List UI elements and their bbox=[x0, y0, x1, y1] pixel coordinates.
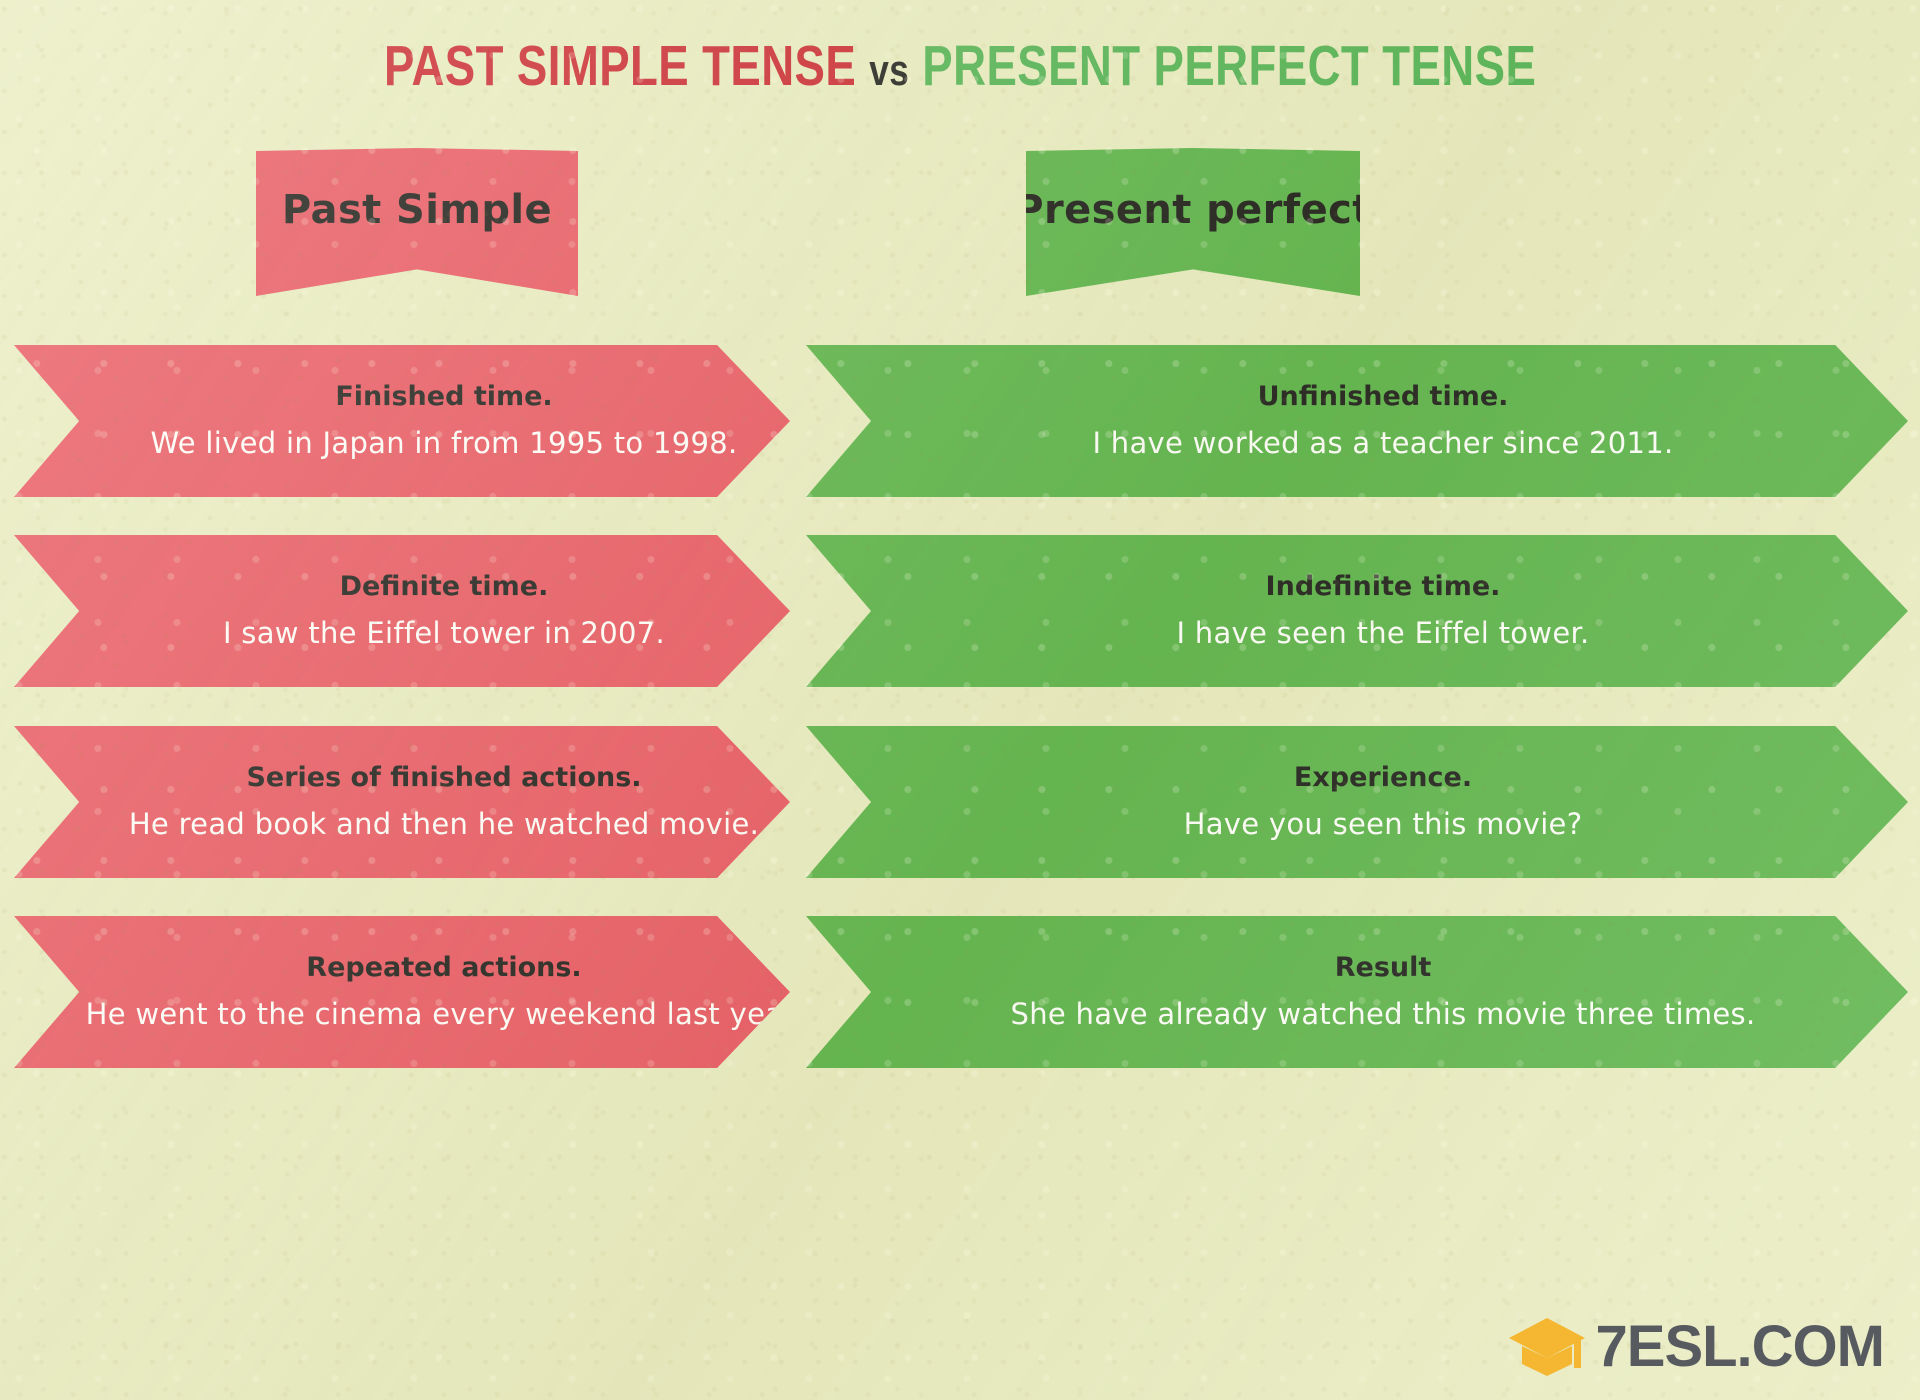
past-simple-item-4-headline: Repeated actions. bbox=[306, 953, 581, 983]
title-vs-separator: vs bbox=[869, 46, 909, 95]
past-simple-item-1-headline: Finished time. bbox=[335, 382, 552, 412]
past-simple-item-1: Finished time. We lived in Japan in from… bbox=[14, 345, 790, 497]
column-header-present-perfect-label: Present perfect bbox=[1014, 187, 1371, 233]
title-present-perfect: PRESENT PERFECT TENSE bbox=[922, 34, 1536, 98]
present-perfect-item-3-example: Have you seen this movie? bbox=[1184, 809, 1583, 841]
graduation-cap-icon bbox=[1508, 1316, 1586, 1378]
column-header-past-simple: Past Simple bbox=[256, 148, 578, 296]
present-perfect-item-2-example: I have seen the Eiffel tower. bbox=[1176, 618, 1589, 650]
present-perfect-item-1: Unfinished time. I have worked as a teac… bbox=[806, 345, 1908, 497]
present-perfect-item-1-example: I have worked as a teacher since 2011. bbox=[1092, 428, 1673, 460]
present-perfect-item-4-example: She have already watched this movie thre… bbox=[1011, 999, 1756, 1031]
page-title: PAST SIMPLE TENSE vs PRESENT PERFECT TEN… bbox=[0, 38, 1920, 95]
past-simple-item-2-example: I saw the Eiffel tower in 2007. bbox=[223, 618, 665, 650]
past-simple-item-3-example: He read book and then he watched movie. bbox=[129, 809, 759, 841]
title-past-simple: PAST SIMPLE TENSE bbox=[384, 34, 856, 98]
present-perfect-item-2: Indefinite time. I have seen the Eiffel … bbox=[806, 535, 1908, 687]
present-perfect-item-3: Experience. Have you seen this movie? bbox=[806, 726, 1908, 878]
past-simple-item-2-headline: Definite time. bbox=[340, 572, 549, 602]
present-perfect-item-4-headline: Result bbox=[1335, 953, 1432, 983]
present-perfect-item-2-headline: Indefinite time. bbox=[1266, 572, 1501, 602]
column-header-present-perfect: Present perfect bbox=[1026, 148, 1360, 296]
past-simple-item-4: Repeated actions. He went to the cinema … bbox=[14, 916, 790, 1068]
brand-logo: 7ESL.COM bbox=[1508, 1316, 1885, 1378]
past-simple-item-2: Definite time. I saw the Eiffel tower in… bbox=[14, 535, 790, 687]
past-simple-item-1-example: We lived in Japan in from 1995 to 1998. bbox=[151, 428, 738, 460]
present-perfect-item-3-headline: Experience. bbox=[1294, 763, 1472, 793]
past-simple-item-4-example: He went to the cinema every weekend last… bbox=[86, 999, 803, 1031]
brand-name: 7ESL.COM bbox=[1596, 1318, 1885, 1376]
present-perfect-item-4: Result She have already watched this mov… bbox=[806, 916, 1908, 1068]
past-simple-item-3-headline: Series of finished actions. bbox=[246, 763, 641, 793]
column-header-past-simple-label: Past Simple bbox=[282, 187, 552, 233]
present-perfect-item-1-headline: Unfinished time. bbox=[1258, 382, 1509, 412]
past-simple-item-3: Series of finished actions. He read book… bbox=[14, 726, 790, 878]
